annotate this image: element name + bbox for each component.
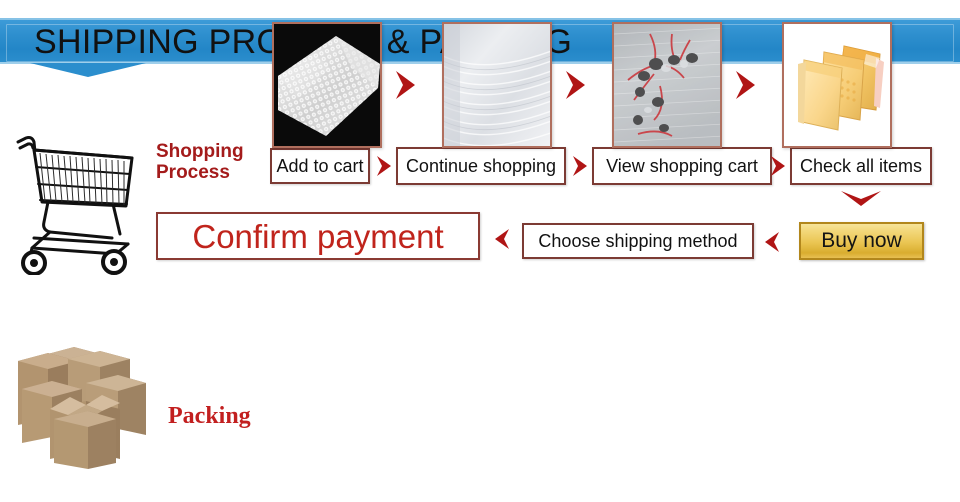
arrow-right-icon	[374, 153, 396, 179]
banner-notch	[30, 63, 146, 77]
shopping-process-label-line2: Process	[156, 162, 272, 183]
cardboard-boxes-icon	[8, 333, 168, 473]
arrow-right-icon	[562, 68, 590, 102]
arrow-right-icon	[570, 153, 592, 179]
shopping-process-label-line1: Shopping	[156, 141, 272, 162]
arrow-right-icon	[392, 68, 420, 102]
packing-section: Packing	[0, 325, 960, 502]
packing-thumb-poly-film-sheet	[442, 22, 552, 148]
arrow-right-icon	[732, 68, 760, 102]
step-continue-shopping[interactable]: Continue shopping	[396, 147, 566, 185]
packing-thumb-parts-in-plastic-bag	[612, 22, 722, 148]
buy-now-button[interactable]: Buy now	[799, 222, 924, 260]
shopping-process-label: Shopping Process	[156, 141, 272, 183]
step-add-to-cart[interactable]: Add to cart	[270, 148, 370, 184]
arrow-down-icon	[838, 188, 884, 212]
arrow-right-icon	[768, 153, 790, 179]
packing-label: Packing	[168, 403, 251, 430]
arrow-left-icon	[760, 229, 782, 255]
shopping-cart-icon	[8, 130, 148, 275]
step-choose-shipping-method[interactable]: Choose shipping method	[522, 223, 754, 259]
packing-thumb-padded-bubble-mailers	[782, 22, 892, 148]
step-confirm-payment[interactable]: Confirm payment	[156, 212, 480, 260]
step-check-all-items[interactable]: Check all items	[790, 147, 932, 185]
packing-thumb-bubble-wrap-roll	[272, 22, 382, 148]
step-view-shopping-cart[interactable]: View shopping cart	[592, 147, 772, 185]
arrow-left-icon	[490, 226, 512, 252]
